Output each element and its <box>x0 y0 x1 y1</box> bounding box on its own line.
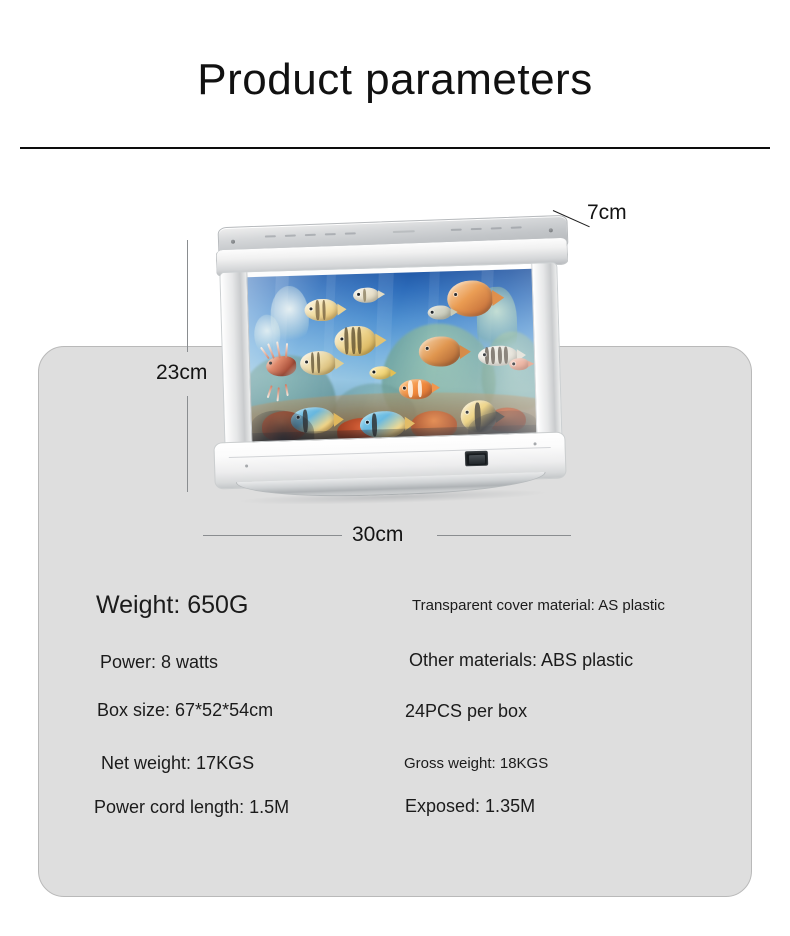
dimension-line-width-left <box>203 535 342 536</box>
dimension-label-depth: 7cm <box>587 201 627 225</box>
spec-weight: Weight: 650G <box>96 591 248 620</box>
fish-angelfish-striped-1 <box>334 325 377 356</box>
power-switch[interactable] <box>465 451 488 467</box>
fish-small-1 <box>353 287 379 303</box>
fish-small-pink <box>509 358 529 371</box>
fish-butterflyfish-1 <box>304 299 339 322</box>
dimension-line-height-top <box>187 240 188 352</box>
spec-pcs-per-box: 24PCS per box <box>405 701 527 722</box>
spec-net-weight: Net weight: 17KGS <box>101 753 254 774</box>
dimension-line-width-right <box>437 535 571 536</box>
spec-other-materials: Other materials: ABS plastic <box>409 650 633 671</box>
spec-box-size: Box size: 67*52*54cm <box>97 700 273 721</box>
spec-gross-weight: Gross weight: 18KGS <box>404 755 548 772</box>
dimension-label-height: 23cm <box>156 361 207 385</box>
fish-small-2 <box>428 306 452 321</box>
lamp-frame-left-post <box>220 272 252 454</box>
spec-power: Power: 8 watts <box>100 652 218 673</box>
fish-angelfish-striped-2 <box>300 350 337 375</box>
fish-clownfish-1 <box>398 378 433 399</box>
fish-tang-orange <box>418 336 461 367</box>
dimension-label-width: 30cm <box>352 523 403 547</box>
spec-exposed: Exposed: 1.35M <box>405 796 535 817</box>
fish-lionfish <box>257 348 302 385</box>
dimension-line-height-bottom <box>187 396 188 492</box>
lamp-frame-right-post <box>531 263 561 445</box>
product-image-aquarium-lamp <box>200 215 575 515</box>
spec-transparent-cover-material: Transparent cover material: AS plastic <box>412 597 665 614</box>
title-divider <box>20 147 770 149</box>
fish-small-yellow <box>369 366 391 380</box>
page-title: Product parameters <box>0 56 790 104</box>
aquarium-scene <box>247 269 538 449</box>
lamp-tank <box>219 262 562 455</box>
spec-power-cord-length: Power cord length: 1.5M <box>94 797 289 818</box>
